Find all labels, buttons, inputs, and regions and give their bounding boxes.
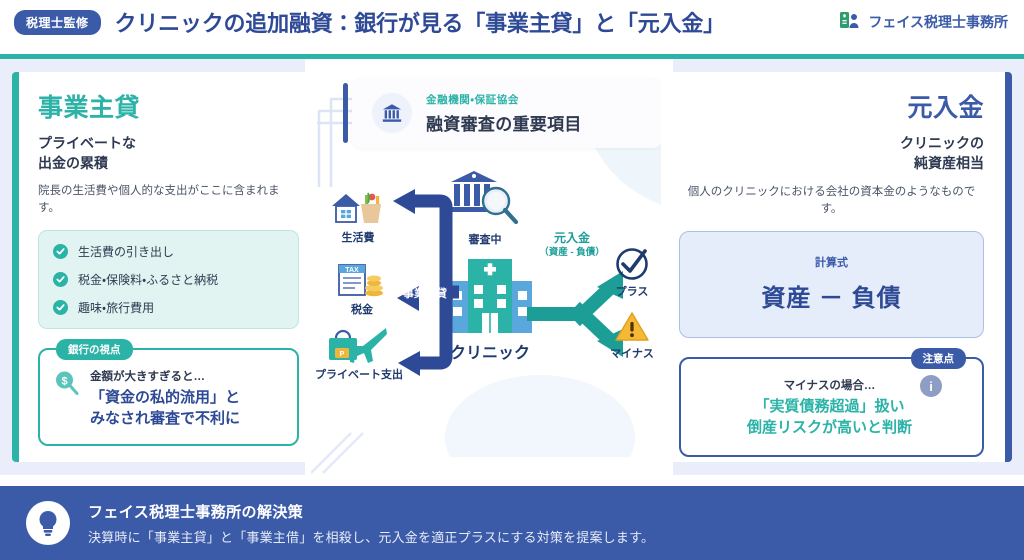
caution-strong-line2: 倒産リスクが高いと判断 [747, 417, 912, 438]
bank-viewpoint-tab-label: 銀行の視点 [56, 339, 133, 360]
caution-strong: 「実質債務超過」扱い 倒産リスクが高いと判断 [747, 396, 912, 439]
footer-solution-bar: フェイス税理士事務所の解決策 決算時に「事業主貸」と「事業主借」を相殺し、元入金… [0, 486, 1024, 560]
house-groceries-icon [329, 189, 387, 229]
supervision-badge: 税理士監修 [14, 10, 101, 35]
lightbulb-icon [26, 501, 70, 545]
outflow-label-living: 生活費 [327, 229, 389, 245]
caution-strong-line1: 「実質債務超過」扱い [747, 396, 912, 417]
svg-text:$: $ [61, 375, 67, 387]
right-arrow-label-line2: （資産 - 負債） [527, 247, 617, 259]
bank-icon [372, 93, 412, 133]
money-magnifier-icon: $ [52, 368, 82, 403]
right-panel-heading: 元入金 [679, 88, 984, 124]
left-panel-checklist: 生活費の引き出し 税金・保険料・ふるさと納税 趣味・旅行費用 [38, 230, 299, 329]
left-panel-subtitle: プライベートな 出金の累積 [38, 133, 299, 174]
center-header-title: 融資審査の重要項目 [426, 110, 582, 135]
left-panel-subtitle-line1: プライベートな [38, 133, 299, 153]
right-panel-motoirekin: 元入金 クリニックの 純資産相当 個人のクリニックにおける会社の資本金のようなも… [661, 72, 1012, 462]
bank-viewpoint-box: 銀行の視点 $ 金額が大きすぎると… 「資金の私的 [38, 348, 299, 446]
left-panel-heading: 事業主貸 [38, 88, 299, 124]
body-area: 事業主貸 プライベートな 出金の累積 院長の生活費や個人的な支出がここに含まれま… [0, 59, 1024, 475]
formula-kicker: 計算式 [690, 254, 973, 270]
jigyounushikashi-arrow [383, 187, 463, 377]
bag-airplane-icon: P [323, 324, 389, 366]
center-header-card: 金融機関・保証協会 融資審査の重要項目 [352, 78, 662, 148]
flow-diagram: 審査中 クリニック [305, 159, 673, 469]
check-circle-icon [53, 244, 68, 259]
clinic-staff-icon [839, 10, 861, 35]
right-panel-description: 個人のクリニックにおける会社の資本金のようなものです。 [679, 184, 984, 219]
brand-logo: フェイス税理士事務所 [839, 10, 1010, 35]
check-outline-icon [614, 246, 650, 282]
right-panel-subtitle-line2: 純資産相当 [679, 153, 984, 173]
center-header-kicker: 金融機関・保証協会 [426, 92, 582, 107]
footer-subtitle: 決算時に「事業主貸」と「事業主借」を相殺し、元入金を適正プラスにする対策を提案し… [88, 527, 654, 546]
bank-viewpoint-strong-line1: 「資金の私的流用」と [90, 387, 285, 408]
left-panel-accent-bar [12, 72, 19, 462]
page-title: クリニックの追加融資：銀行が見る「事業主貸」と「元入金」 [115, 6, 725, 38]
left-panel-subtitle-line2: 出金の累積 [38, 153, 299, 173]
right-panel-subtitle: クリニックの 純資産相当 [679, 133, 984, 174]
outcome-label-plus: プラス [603, 283, 661, 299]
caution-box: 注意点 マイナスの場合… 「実質債務超過」扱い 倒産リスクが高いと判断 i [679, 357, 984, 457]
page-header: 税理士監修 クリニックの追加融資：銀行が見る「事業主貸」と「元入金」 フェイス税… [0, 0, 1024, 44]
bank-viewpoint-strong-line2: みなされ審査で不利に [90, 408, 285, 429]
caution-lead: マイナスの場合… [747, 377, 912, 393]
left-arrow-label: 事業主貸 [397, 285, 453, 301]
list-item-label: 生活費の引き出し [78, 243, 174, 260]
list-item: 生活費の引き出し [53, 243, 284, 260]
right-panel-accent-bar [1005, 72, 1012, 462]
list-item-label: 趣味・旅行費用 [78, 299, 154, 316]
right-arrow-label: 元入金 （資産 - 負債） [527, 231, 617, 259]
formula-expression: 資産 － 負債 [690, 278, 973, 313]
left-panel-description: 院長の生活費や個人的な支出がここに含まれます。 [38, 183, 299, 218]
bank-viewpoint-strong: 「資金の私的流用」と みなされ審査で不利に [90, 387, 285, 430]
right-arrow-label-line1: 元入金 [527, 231, 617, 247]
warning-triangle-icon [615, 311, 649, 343]
formula-box: 計算式 資産 － 負債 [679, 231, 984, 338]
brand-name: フェイス税理士事務所 [868, 12, 1008, 32]
list-item: 趣味・旅行費用 [53, 299, 284, 316]
info-icon: i [920, 375, 942, 397]
svg-text:P: P [340, 351, 345, 358]
outcome-label-minus: マイナス [597, 345, 667, 361]
check-circle-icon [53, 300, 68, 315]
tax-coins-icon: TAX [335, 259, 387, 301]
list-item-label: 税金・保険料・ふるさと納税 [78, 271, 218, 288]
caution-tab-label: 注意点 [911, 348, 967, 369]
check-circle-icon [53, 272, 68, 287]
center-header-accent-bar [343, 83, 348, 143]
right-panel-subtitle-line1: クリニックの [679, 133, 984, 153]
footer-title: フェイス税理士事務所の解決策 [88, 501, 654, 522]
infographic-page: 税理士監修 クリニックの追加融資：銀行が見る「事業主貸」と「元入金」 フェイス税… [0, 0, 1024, 560]
svg-text:TAX: TAX [345, 267, 359, 274]
left-panel-jigyounushikashi: 事業主貸 プライベートな 出金の累積 院長の生活費や個人的な支出がここに含まれま… [12, 72, 317, 462]
list-item: 税金・保険料・ふるさと納税 [53, 271, 284, 288]
bank-viewpoint-lead: 金額が大きすぎると… [90, 368, 285, 384]
